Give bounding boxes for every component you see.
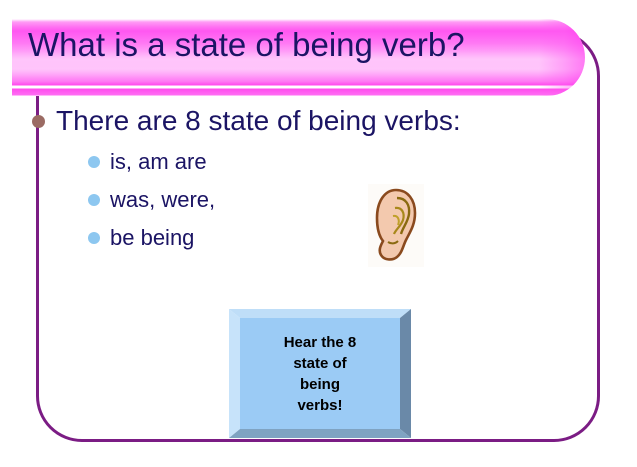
button-label: Hear the 8 state of being verbs! (284, 332, 357, 416)
bullet-text: There are 8 state of being verbs: (56, 104, 496, 138)
button-label-line: verbs! (284, 395, 357, 416)
slide-canvas: What is a state of being verb? There are… (0, 0, 637, 467)
button-bevel-left (229, 309, 240, 438)
slide-body: There are 8 state of being verbs: is, am… (0, 104, 637, 252)
bullet-text: be being (110, 225, 194, 250)
button-bevel-top (229, 309, 411, 318)
button-label-line: Hear the 8 (284, 332, 357, 353)
button-label-line: being (284, 374, 357, 395)
bullet-item-level2: is, am are (110, 148, 430, 176)
bullet-item-level1: There are 8 state of being verbs: (56, 104, 496, 138)
button-label-line: state of (284, 353, 357, 374)
bullet-dot-icon (88, 232, 100, 244)
ear-image (368, 184, 424, 267)
bullet-dot-icon (88, 194, 100, 206)
button-bevel-right (400, 309, 411, 438)
bullet-dot-icon (32, 115, 45, 128)
bullet-text: is, am are (110, 149, 207, 174)
hear-verbs-button[interactable]: Hear the 8 state of being verbs! (229, 309, 411, 438)
slide-title: What is a state of being verb? (28, 26, 465, 64)
button-bevel-bottom (229, 429, 411, 438)
bullet-dot-icon (88, 156, 100, 168)
bullet-text: was, were, (110, 187, 215, 212)
button-face[interactable]: Hear the 8 state of being verbs! (240, 318, 400, 429)
